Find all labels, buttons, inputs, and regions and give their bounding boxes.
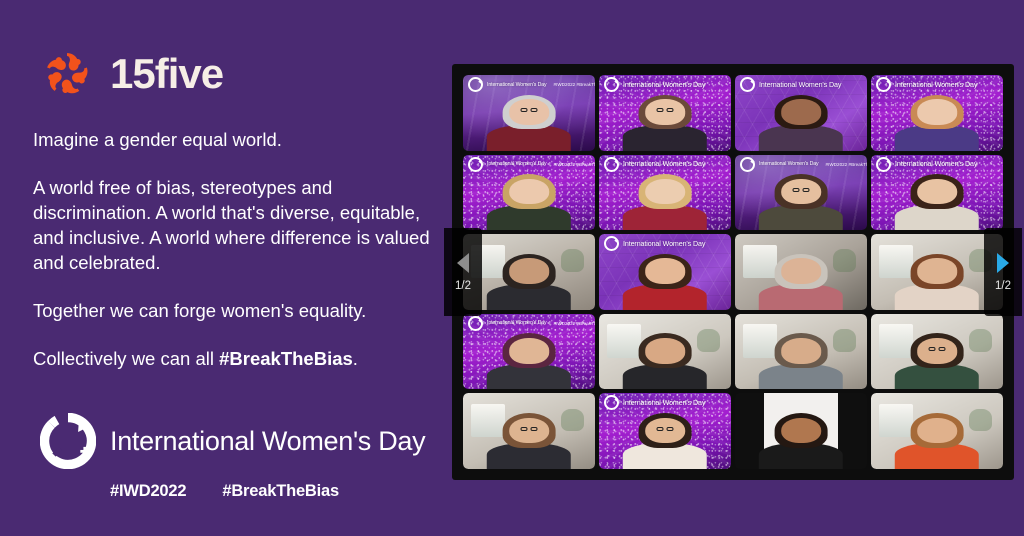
participant-tile[interactable]: International Women's Day xyxy=(599,234,731,310)
participant-video-subject xyxy=(599,314,731,390)
participant-tile[interactable] xyxy=(463,393,595,469)
participant-video-subject xyxy=(735,234,867,310)
iwd-overlay-title: International Women's Day xyxy=(623,81,705,89)
break-the-bias-hashtag: #BreakTheBias xyxy=(219,348,353,369)
iwd-overlay-banner: International Women's Day xyxy=(876,158,999,171)
participant-video-subject xyxy=(735,314,867,390)
iwd-overlay-title: International Women's Day xyxy=(623,240,705,248)
iwd-overlay-banner: International Women's Day#IWD2022 #Break… xyxy=(740,158,863,171)
iwd-overlay-banner: International Women's Day xyxy=(604,158,727,171)
eyeglasses xyxy=(657,108,674,112)
left-content-panel: 15five Imagine a gender equal world. A w… xyxy=(0,0,440,536)
participant-tile[interactable]: International Women's Day#IWD2022 #Break… xyxy=(735,155,867,231)
participant-tile[interactable]: International Women's Day#IWD2022 #Break… xyxy=(463,314,595,390)
iwd-overlay-title: International Women's Day xyxy=(895,81,977,89)
next-page-control[interactable]: 1/2 xyxy=(984,228,1022,316)
paragraph-4: Collectively we can all #BreakTheBias. xyxy=(33,346,431,371)
chevron-right-icon xyxy=(997,253,1009,273)
participant-tile[interactable] xyxy=(871,314,1003,390)
iwd-overlay-banner: International Women's Day xyxy=(604,237,727,250)
brand-lockup: 15five xyxy=(38,45,223,103)
hashtag-breakthebias: #BreakTheBias xyxy=(222,482,339,501)
brand-wordmark: 15five xyxy=(110,53,223,95)
message-block: Imagine a gender equal world. A world fr… xyxy=(33,127,431,371)
participant-video-subject xyxy=(735,393,867,469)
iwd-overlay-banner: International Women's Day#IWD2022 #Break… xyxy=(468,317,591,330)
iwd-overlay-banner: International Women's Day xyxy=(604,78,727,91)
iwd-overlay-title: International Women's Day xyxy=(895,160,977,168)
iwd-circle-arrow-venus-icon xyxy=(468,77,483,92)
participant-tile[interactable]: International Women's Day xyxy=(599,75,731,151)
iwd-overlay-banner: International Women's Day xyxy=(876,78,999,91)
participant-tile[interactable] xyxy=(463,234,595,310)
participant-tile[interactable]: International Women's Day#IWD2022 #Break… xyxy=(463,75,595,151)
iwd-webinar-slide: 15five Imagine a gender equal world. A w… xyxy=(0,0,1024,536)
hashtag-row: #IWD2022 #BreakTheBias xyxy=(110,482,339,501)
participant-tile[interactable]: International Women's Day xyxy=(735,75,867,151)
participant-tile[interactable] xyxy=(871,393,1003,469)
participant-tile[interactable]: International Women's Day xyxy=(871,75,1003,151)
paragraph-1: Imagine a gender equal world. xyxy=(33,127,431,152)
iwd-overlay-hashtags: #IWD2022 #BreakTheBias xyxy=(826,162,867,167)
eyeglasses xyxy=(929,347,946,351)
eyeglasses xyxy=(521,427,538,431)
iwd-overlay-title: International Women's Day xyxy=(623,160,705,168)
15five-pinwheel-icon xyxy=(38,45,96,103)
video-call-stage: International Women's Day#IWD2022 #Break… xyxy=(452,64,1014,480)
iwd-overlay-hashtags: #IWD2022 #BreakTheBias xyxy=(554,82,595,87)
iwd-circle-arrow-venus-icon xyxy=(876,77,891,92)
participant-tile[interactable] xyxy=(735,393,867,469)
final-line-suffix: . xyxy=(353,348,358,369)
participant-tile[interactable]: International Women's Day xyxy=(871,155,1003,231)
iwd-overlay-title: International Women's Day xyxy=(759,81,841,89)
iwd-overlay-banner: International Women's Day#IWD2022 #Break… xyxy=(468,158,591,171)
participant-tile[interactable] xyxy=(599,314,731,390)
eyeglasses xyxy=(657,427,674,431)
eyeglasses xyxy=(793,188,810,192)
next-page-label: 1/2 xyxy=(995,280,1011,292)
iwd-overlay-title: International Women's Day xyxy=(759,161,819,167)
iwd-overlay-banner: International Women's Day#IWD2022 #Break… xyxy=(468,78,591,91)
iwd-overlay-title: International Women's Day xyxy=(487,82,547,88)
iwd-lockup: International Women's Day xyxy=(40,413,425,469)
iwd-circle-arrow-venus-icon xyxy=(468,157,483,172)
iwd-overlay-banner: International Women's Day xyxy=(740,78,863,91)
iwd-circle-arrow-venus-icon xyxy=(604,395,619,410)
iwd-circle-arrow-venus-icon xyxy=(604,157,619,172)
participant-tile[interactable]: International Women's Day xyxy=(599,393,731,469)
eyeglasses xyxy=(521,108,538,112)
iwd-circle-arrow-venus-icon xyxy=(604,236,619,251)
iwd-circle-arrow-venus-icon xyxy=(604,77,619,92)
iwd-overlay-title: International Women's Day xyxy=(487,161,547,167)
iwd-overlay-hashtags: #IWD2022 #BreakTheBias xyxy=(554,321,595,326)
paragraph-2: A world free of bias, stereotypes and di… xyxy=(33,175,431,275)
paragraph-3: Together we can forge women's equality. xyxy=(33,298,431,323)
prev-page-control[interactable]: 1/2 xyxy=(444,228,482,316)
participant-tile[interactable] xyxy=(735,314,867,390)
iwd-circle-arrow-venus-icon xyxy=(468,316,483,331)
iwd-overlay-title: International Women's Day xyxy=(487,320,547,326)
iwd-overlay-title: International Women's Day xyxy=(623,399,705,407)
participant-grid: International Women's Day#IWD2022 #Break… xyxy=(463,75,1003,469)
iwd-title: International Women's Day xyxy=(110,426,425,457)
participant-tile[interactable]: International Women's Day xyxy=(599,155,731,231)
iwd-circle-arrow-venus-icon xyxy=(740,157,755,172)
iwd-circle-arrow-venus-icon xyxy=(740,77,755,92)
participant-video-subject xyxy=(871,314,1003,390)
participant-video-subject xyxy=(463,234,595,310)
iwd-circle-arrow-venus-icon xyxy=(876,157,891,172)
participant-video-subject xyxy=(463,393,595,469)
iwd-overlay-banner: International Women's Day xyxy=(604,396,727,409)
chevron-left-icon xyxy=(457,253,469,273)
final-line-prefix: Collectively we can all xyxy=(33,348,219,369)
participant-tile[interactable] xyxy=(735,234,867,310)
participant-video-subject xyxy=(871,393,1003,469)
iwd-circle-arrow-venus-icon xyxy=(40,413,96,469)
prev-page-label: 1/2 xyxy=(455,280,471,292)
iwd-overlay-hashtags: #IWD2022 #BreakTheBias xyxy=(554,162,595,167)
participant-tile[interactable]: International Women's Day#IWD2022 #Break… xyxy=(463,155,595,231)
hashtag-iwd2022: #IWD2022 xyxy=(110,482,186,501)
